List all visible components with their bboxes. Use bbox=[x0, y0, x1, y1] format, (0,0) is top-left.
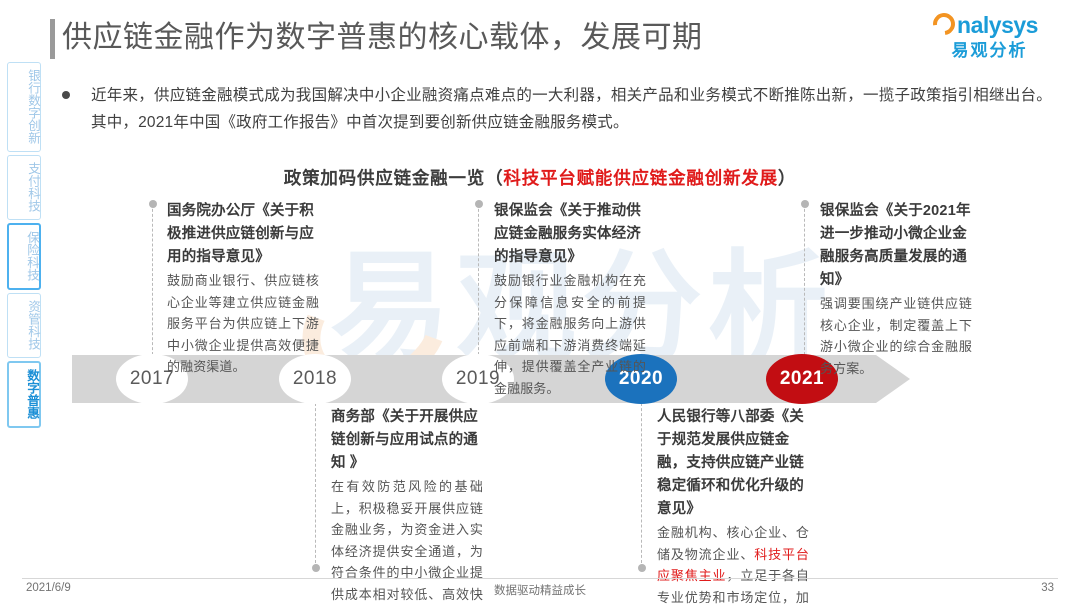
section-title-main: 政策加码供应链金融一览（ bbox=[284, 168, 504, 188]
bullet-text: 近年来，供应链金融模式成为我国解决中小企业融资痛点难点的一大利器，相关产品和业务… bbox=[91, 82, 1052, 136]
bullet-paragraph: 近年来，供应链金融模式成为我国解决中小企业融资痛点难点的一大利器，相关产品和业务… bbox=[62, 82, 1052, 136]
slide-canvas: 易观分析 供应链金融作为数字普惠的核心载体，发展可期 nalysys 易观分析 … bbox=[0, 0, 1080, 608]
connector-2017 bbox=[152, 204, 153, 355]
policy-card-2017-body: 鼓励商业银行、供应链核心企业等建立供应链金融服务平台为供应链上下游中小微企业提供… bbox=[167, 270, 319, 378]
policy-card-2019: 银保监会《关于推动供应链金融服务实体经济的指导意见》 鼓励银行业金融机构在充分保… bbox=[494, 200, 646, 399]
sidebar-item-digital-inclusive-finance[interactable]: 数字普惠 bbox=[7, 361, 41, 428]
connector-2020 bbox=[641, 403, 642, 568]
bullet-dot-icon bbox=[62, 91, 70, 99]
connector-knob-2021 bbox=[801, 200, 809, 208]
policy-card-2021-body: 强调要围绕产业链供应链核心企业，制定覆盖上下游小微企业的综合金融服务方案。 bbox=[820, 293, 972, 379]
connector-2021 bbox=[804, 204, 805, 355]
policy-card-2019-title: 银保监会《关于推动供应链金融服务实体经济的指导意见》 bbox=[494, 200, 646, 269]
policy-card-2017: 国务院办公厅《关于积极推进供应链创新与应用的指导意见》 鼓励商业银行、供应链核心… bbox=[167, 200, 319, 378]
policy-card-2021: 银保监会《关于2021年进一步推动小微企业金融服务高质量发展的通知》 强调要围绕… bbox=[820, 200, 972, 379]
policy-card-2020-title: 人民银行等八部委《关于规范发展供应链金融，支持供应链产业链稳定循环和优化升级的意… bbox=[657, 406, 809, 521]
connector-knob-2019 bbox=[475, 200, 483, 208]
footer-page-number: 33 bbox=[1041, 582, 1054, 594]
sidebar: 银行数字创新 支付科技 保险科技 资管科技 数字普惠 bbox=[6, 62, 42, 431]
sidebar-item-bank-digital-innovation[interactable]: 银行数字创新 bbox=[7, 62, 41, 152]
connector-knob-2017 bbox=[149, 200, 157, 208]
title-accent-bar bbox=[50, 19, 55, 59]
policy-card-2018-title: 商务部《关于开展供应链创新与应用试点的通知 》 bbox=[331, 406, 483, 475]
footer-divider bbox=[22, 578, 1058, 579]
policy-card-2017-title: 国务院办公厅《关于积极推进供应链创新与应用的指导意见》 bbox=[167, 200, 319, 269]
brand-logo: nalysys 易观分析 bbox=[927, 10, 1052, 66]
policy-card-2019-body: 鼓励银行业金融机构在充分保障信息安全的前提下，将金融服务向上游供应前端和下游消费… bbox=[494, 270, 646, 399]
connector-knob-2018 bbox=[312, 564, 320, 572]
sidebar-item-insurance-tech[interactable]: 保险科技 bbox=[7, 223, 41, 290]
page-title: 供应链金融作为数字普惠的核心载体，发展可期 bbox=[62, 18, 703, 58]
footer-slogan: 数据驱动精益成长 bbox=[0, 582, 1080, 598]
section-title: 政策加码供应链金融一览（科技平台赋能供应链金融创新发展） bbox=[0, 165, 1080, 190]
section-title-tail: ） bbox=[778, 168, 796, 188]
connector-2018 bbox=[315, 403, 316, 568]
sidebar-item-asset-management-tech[interactable]: 资管科技 bbox=[7, 293, 41, 358]
logo-chinese-name: 易观分析 bbox=[927, 40, 1052, 62]
connector-2019 bbox=[478, 204, 479, 355]
policy-card-2021-title: 银保监会《关于2021年进一步推动小微企业金融服务高质量发展的通知》 bbox=[820, 200, 972, 292]
logo-top-row: nalysys bbox=[927, 10, 1052, 40]
sidebar-item-payment-tech[interactable]: 支付科技 bbox=[7, 155, 41, 220]
connector-knob-2020 bbox=[638, 564, 646, 572]
section-title-highlight: 科技平台赋能供应链金融创新发展 bbox=[503, 168, 778, 188]
